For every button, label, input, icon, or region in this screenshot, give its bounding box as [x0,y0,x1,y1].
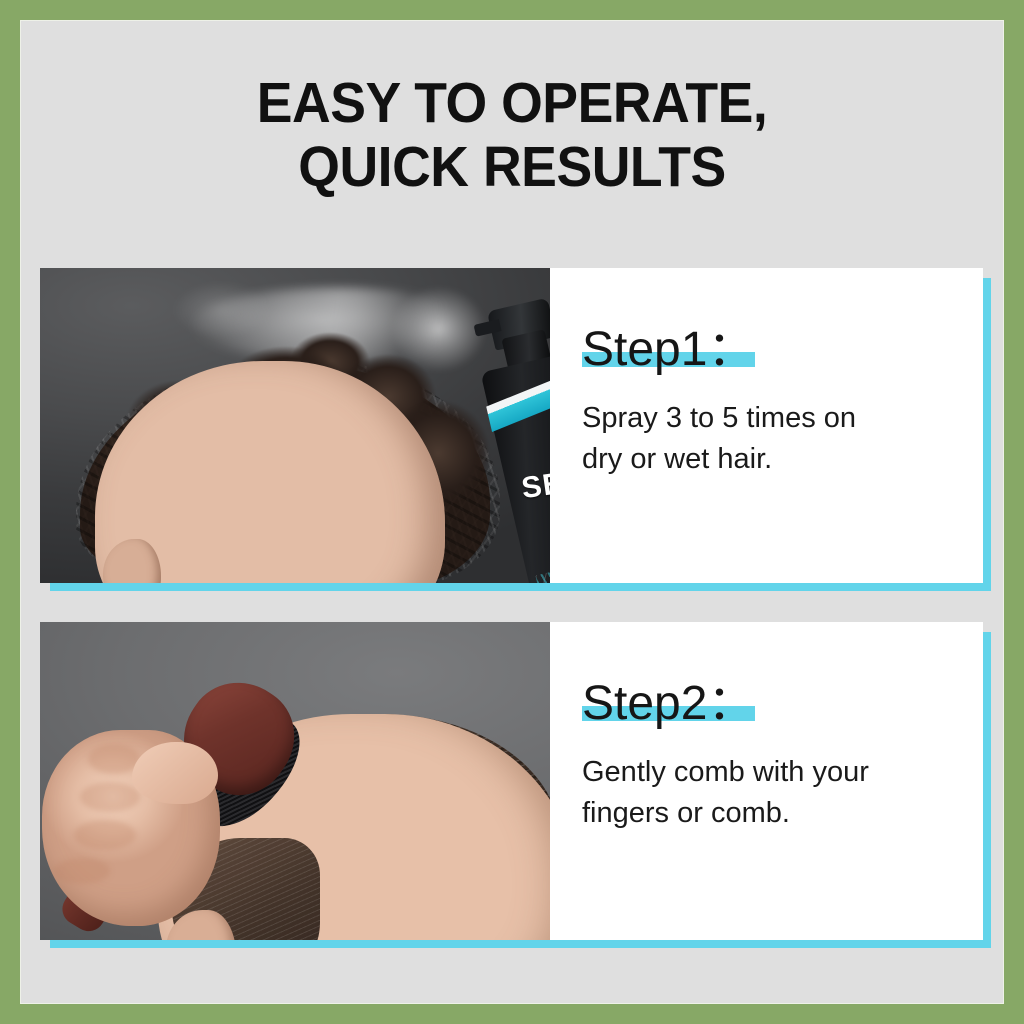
headline-line-2: QUICK RESULTS [50,136,975,200]
step-2-title: Step2： [582,677,755,730]
step-1-body-line-1: Spray 3 to 5 times on [582,398,962,439]
poster-canvas: EASY TO OPERATE, QUICK RESULTS [20,20,1004,1004]
page-title: EASY TO OPERATE, QUICK RESULTS [50,72,975,200]
step-card-2: Step2： Gently comb with your fingers or … [40,622,983,940]
thumb-shape [132,742,218,804]
step-1-title: Step1： [582,323,755,376]
step-1-body-line-2: dry or wet hair. [582,439,962,480]
step-1-photo: SE [40,268,550,583]
knuckle-shape [74,820,136,850]
headline-line-1: EASY TO OPERATE, [50,72,975,136]
step-2-photo [40,622,550,940]
bottle-artwork-shape [535,554,550,583]
step-1-title-block: Step1： [582,326,755,374]
step-2-body-line-2: fingers or comb. [582,793,962,834]
step-2-body-line-1: Gently comb with your [582,752,962,793]
step-2-text-pane: Step2： Gently comb with your fingers or … [550,622,983,940]
knuckle-shape [54,858,110,884]
step-2-title-block: Step2： [582,680,755,728]
poster: EASY TO OPERATE, QUICK RESULTS [0,0,1024,1024]
step-card-1: SE Step1： Spray 3 to 5 times on dry or w… [40,268,983,583]
knuckle-shape [80,782,140,812]
step-2-body: Gently comb with your fingers or comb. [582,752,962,834]
step-1-text-pane: Step1： Spray 3 to 5 times on dry or wet … [550,268,983,583]
step-1-body: Spray 3 to 5 times on dry or wet hair. [582,398,962,480]
